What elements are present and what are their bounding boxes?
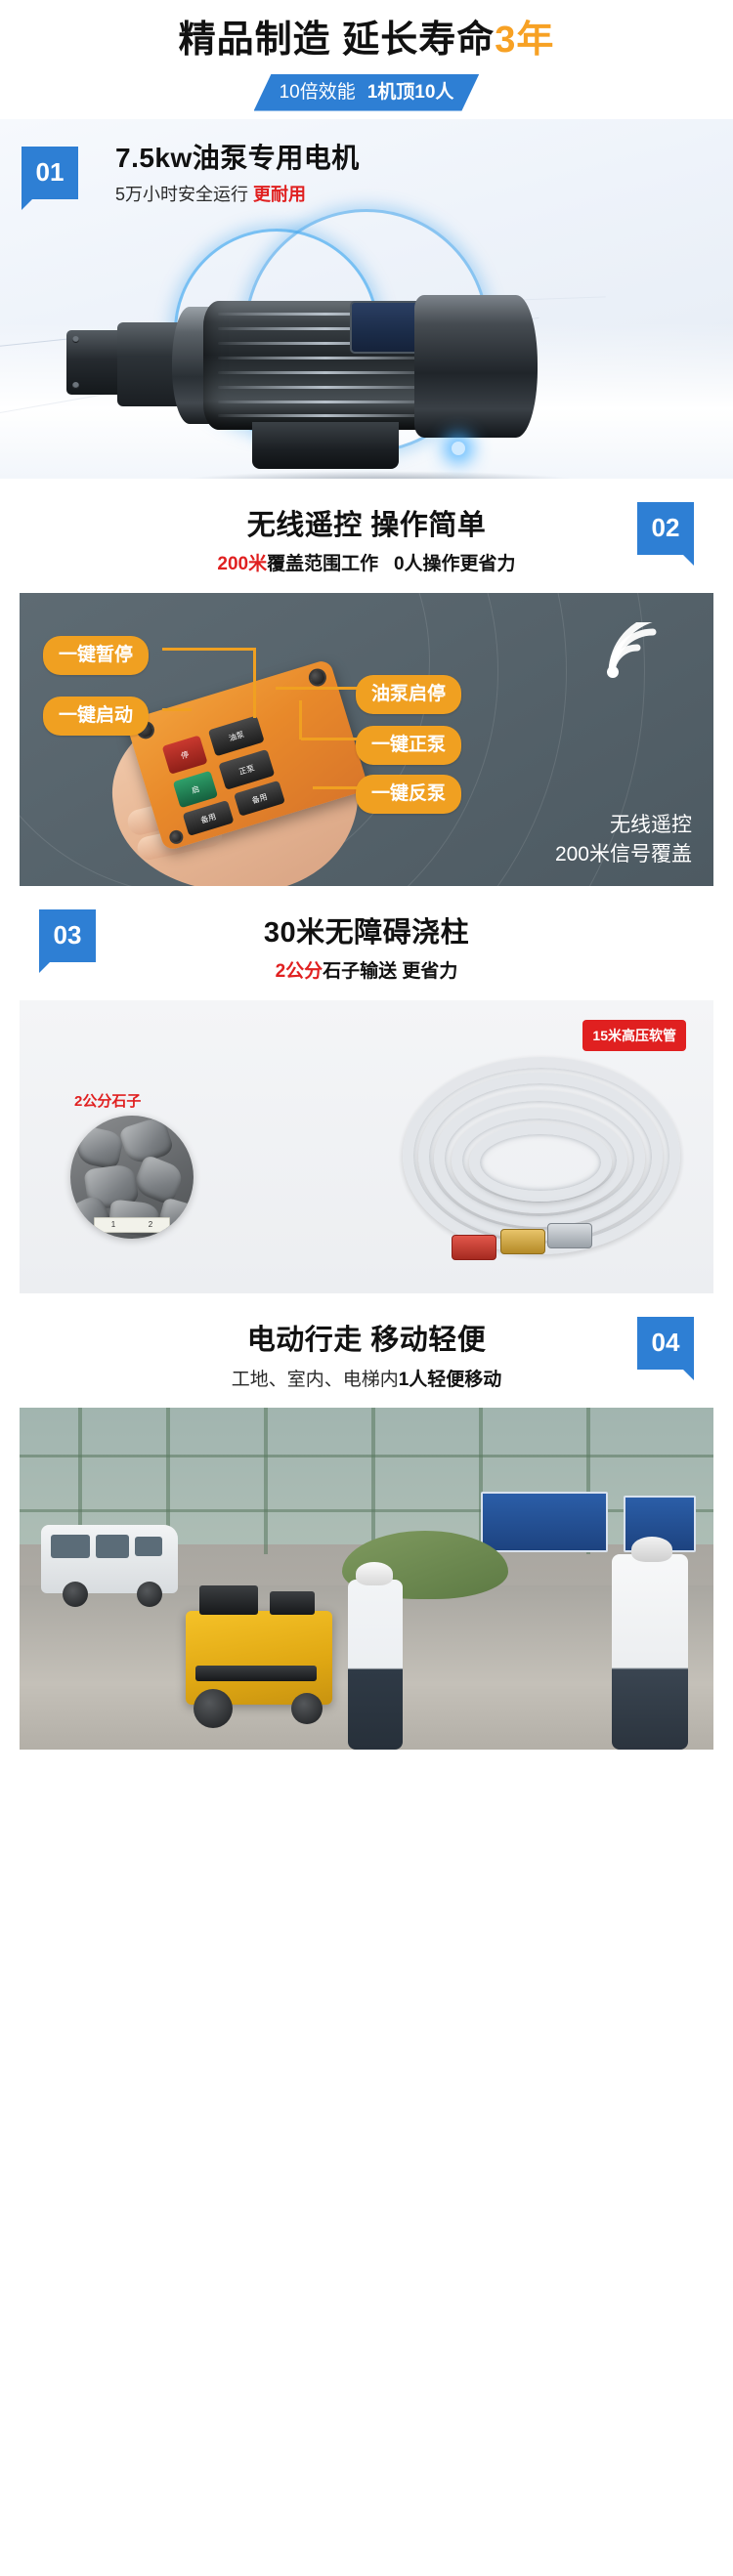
page-title: 精品制造 延长寿命3年 bbox=[0, 18, 733, 64]
section-number-label: 01 bbox=[36, 157, 65, 188]
leader-line bbox=[162, 708, 192, 711]
hose-coupling-red bbox=[452, 1235, 496, 1260]
section-01-motor: 01 7.5kw油泵专用电机 5万小时安全运行 更耐用 bbox=[0, 119, 733, 479]
motor-end-cap bbox=[414, 295, 538, 438]
section-number-badge: 01 bbox=[22, 147, 78, 199]
hose-panel: 15米高压软管 2公分石子 1 2 bbox=[20, 1000, 713, 1293]
worker-center bbox=[348, 1580, 403, 1750]
mobility-title: 电动行走 移动轻便 bbox=[0, 1323, 733, 1360]
remote-subtitle-mid: 覆盖范围工作 bbox=[267, 554, 378, 574]
motor-subtitle-highlight: 更耐用 bbox=[253, 185, 306, 204]
scaffold-net bbox=[20, 1408, 713, 1544]
remote-subtitle: 200米覆盖范围工作 0人操作更省力 bbox=[0, 551, 733, 579]
section-number-badge-wrap: 01 bbox=[22, 147, 78, 199]
section-03-hose: 03 30米无障碍浇柱 2公分石子输送 更省力 15米高压软管 2公分石子 1 bbox=[0, 886, 733, 1293]
machine-frame bbox=[195, 1666, 317, 1681]
section-number-badge-wrap: 02 bbox=[637, 502, 694, 555]
machine-wheel bbox=[291, 1693, 323, 1724]
machine-motor bbox=[270, 1591, 315, 1615]
remote-label-pause: 一键暂停 bbox=[43, 636, 149, 675]
motor-panel: 01 7.5kw油泵专用电机 5万小时安全运行 更耐用 bbox=[0, 119, 733, 479]
section-number-label: 04 bbox=[652, 1328, 680, 1358]
remote-panel: 停 油泵 启 正泵 备用 备用 一键暂停 一键启动 油泵启停 一键正泵 一键反泵 bbox=[20, 593, 713, 886]
mobility-subtitle-bold: 1人轻便移动 bbox=[399, 1370, 502, 1390]
hose-coil-image bbox=[385, 1039, 698, 1274]
hose-coupling-brass bbox=[500, 1229, 545, 1254]
section-number-badge-wrap: 04 bbox=[637, 1317, 694, 1370]
leader-line bbox=[299, 700, 302, 739]
ruler-mark-1: 1 bbox=[111, 1220, 115, 1229]
remote-caption: 无线遥控 200米信号覆盖 bbox=[555, 811, 692, 870]
remote-subtitle-post: 0人操作更省力 bbox=[394, 554, 516, 574]
hose-header: 03 30米无障碍浇柱 2公分石子输送 更省力 bbox=[0, 886, 733, 1000]
remote-button-start[interactable]: 启 bbox=[173, 770, 218, 807]
scaffold-rail bbox=[20, 1509, 713, 1512]
hose-subtitle: 2公分石子输送 更省力 bbox=[0, 958, 733, 987]
product-detail-page: 精品制造 延长寿命3年 10倍效能1机顶10人 01 7.5kw油泵专用电机 5… bbox=[0, 0, 733, 1775]
leader-line bbox=[276, 687, 358, 690]
bottom-spacer bbox=[0, 1750, 733, 1775]
hose-loop bbox=[403, 1057, 680, 1254]
leader-line bbox=[253, 648, 256, 718]
wifi-dot bbox=[607, 666, 619, 678]
motor-base-foot bbox=[252, 422, 399, 469]
motor-image bbox=[57, 293, 663, 479]
ruler-mark-2: 2 bbox=[149, 1220, 152, 1229]
scaffold-rail bbox=[20, 1455, 713, 1457]
remote-caption-line2: 200米信号覆盖 bbox=[555, 840, 692, 869]
remote-button-stop[interactable]: 停 bbox=[162, 735, 208, 774]
remote-screw bbox=[307, 666, 328, 688]
van-tire bbox=[63, 1582, 88, 1607]
site-information-board bbox=[481, 1492, 608, 1552]
stone-size-label: 2公分石子 bbox=[74, 1090, 141, 1111]
mobility-subtitle: 工地、室内、电梯内1人轻便移动 bbox=[0, 1367, 733, 1395]
jobsite-photo bbox=[20, 1408, 713, 1750]
section-number-badge: 02 bbox=[637, 502, 694, 555]
hero-ribbon-left: 10倍效能 bbox=[280, 82, 356, 103]
section-number-badge-wrap: 03 bbox=[39, 909, 96, 962]
leader-line bbox=[313, 786, 358, 789]
leader-line bbox=[301, 738, 358, 740]
mobility-subtitle-plain: 工地、室内、电梯内 bbox=[232, 1370, 399, 1390]
remote-subtitle-red: 200米 bbox=[217, 554, 267, 574]
hose-coupling-steel bbox=[547, 1223, 592, 1248]
scale-ruler: 1 2 bbox=[94, 1217, 170, 1233]
leader-line bbox=[162, 648, 256, 651]
page-title-accent: 3年 bbox=[495, 20, 554, 61]
worker-right bbox=[612, 1554, 688, 1750]
section-04-mobility: 04 电动行走 移动轻便 工地、室内、电梯内1人轻便移动 bbox=[0, 1293, 733, 1750]
section-02-remote: 02 无线遥控 操作简单 200米覆盖范围工作 0人操作更省力 bbox=[0, 479, 733, 886]
motor-subtitle: 5万小时安全运行 更耐用 bbox=[115, 182, 360, 208]
remote-label-reverse: 一键反泵 bbox=[356, 775, 461, 814]
section-number-badge: 03 bbox=[39, 909, 96, 962]
stone-sample-photo: 1 2 bbox=[70, 1116, 194, 1239]
remote-label-forward: 一键正泵 bbox=[356, 726, 461, 765]
motor-shadow bbox=[174, 471, 584, 479]
remote-label-pump-toggle: 油泵启停 bbox=[356, 675, 461, 714]
worker-helmet bbox=[356, 1562, 393, 1585]
remote-button-pump[interactable]: 油泵 bbox=[208, 715, 265, 756]
hose-subtitle-rest: 石子输送 更省力 bbox=[323, 961, 457, 982]
wifi-signal-icon bbox=[604, 622, 672, 679]
motor-highlight-spark bbox=[452, 442, 465, 455]
machine-wheel bbox=[194, 1689, 233, 1728]
section-number-badge: 04 bbox=[637, 1317, 694, 1370]
hero-header: 精品制造 延长寿命3年 10倍效能1机顶10人 bbox=[0, 0, 733, 111]
hose-subtitle-red: 2公分 bbox=[276, 961, 323, 982]
page-title-main: 精品制造 延长寿命 bbox=[179, 20, 496, 61]
section-number-label: 02 bbox=[652, 513, 680, 543]
section-number-label: 03 bbox=[54, 920, 82, 950]
hose-title: 30米无障碍浇柱 bbox=[0, 915, 733, 952]
hero-ribbon: 10倍效能1机顶10人 bbox=[254, 74, 480, 111]
hero-ribbon-right: 1机顶10人 bbox=[367, 82, 454, 103]
scaffold-pole bbox=[264, 1408, 268, 1554]
scaffold-pole bbox=[371, 1408, 375, 1554]
remote-label-start: 一键启动 bbox=[43, 697, 149, 736]
motor-title: 7.5kw油泵专用电机 bbox=[115, 141, 360, 176]
remote-screw bbox=[168, 828, 185, 845]
machine-hopper bbox=[199, 1585, 258, 1615]
van-tire bbox=[137, 1582, 162, 1607]
remote-header: 02 无线遥控 操作简单 200米覆盖范围工作 0人操作更省力 bbox=[0, 479, 733, 593]
hero-ribbon-wrap: 10倍效能1机顶10人 bbox=[0, 74, 733, 111]
motor-subtitle-plain: 5万小时安全运行 bbox=[115, 185, 248, 204]
mobility-header: 04 电动行走 移动轻便 工地、室内、电梯内1人轻便移动 bbox=[0, 1293, 733, 1408]
remote-caption-line1: 无线遥控 bbox=[555, 811, 692, 840]
remote-title: 无线遥控 操作简单 bbox=[0, 508, 733, 545]
parked-van bbox=[41, 1525, 178, 1593]
motor-text-block: 7.5kw油泵专用电机 5万小时安全运行 更耐用 bbox=[115, 141, 360, 208]
worker-helmet bbox=[631, 1537, 672, 1562]
